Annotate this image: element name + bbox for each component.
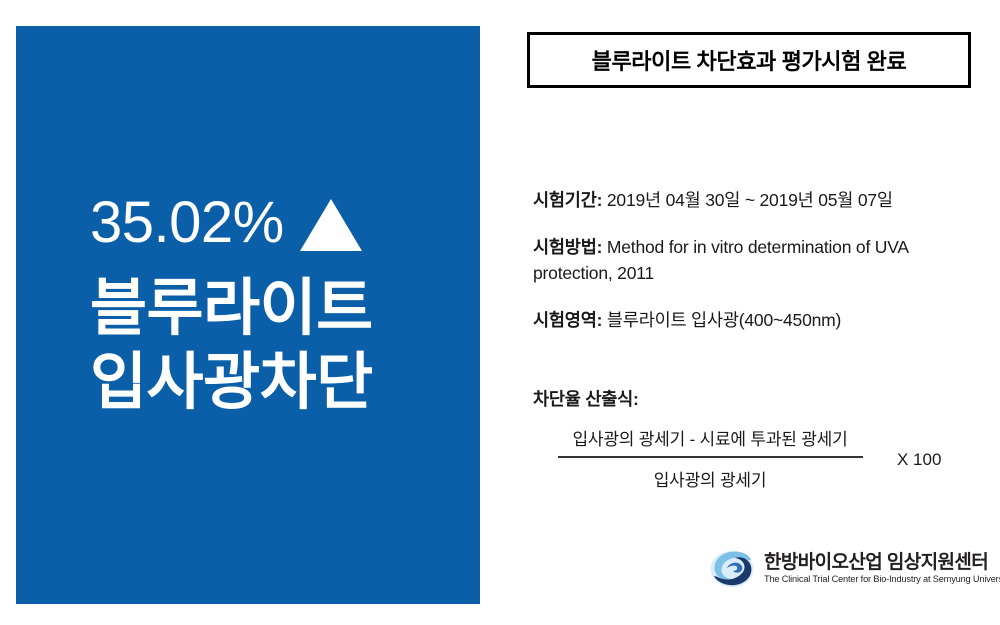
formula-label: 차단율 산출식:: [533, 386, 993, 411]
formula-numerator: 입사광의 광세기 - 시료에 투과된 광세기: [572, 425, 847, 456]
logo-organization-name: 한방바이오산업 임상지원센터: [764, 553, 1000, 572]
blocking-rate-formula: 차단율 산출식: 입사광의 광세기 - 시료에 투과된 광세기 입사광의 광세기…: [533, 386, 993, 491]
formula-fraction: 입사광의 광세기 - 시료에 투과된 광세기 입사광의 광세기: [549, 425, 871, 491]
info-label-test-method: 시험방법:: [533, 237, 602, 257]
logo-organization-subtitle: The Clinical Trial Center for Bio-Indust…: [764, 575, 1000, 584]
formula-expression: 입사광의 광세기 - 시료에 투과된 광세기 입사광의 광세기 X 100: [533, 425, 993, 491]
info-value-test-period: 2019년 04월 30일 ~ 2019년 05월 07일: [602, 190, 893, 210]
test-info-list: 시험기간: 2019년 04월 30일 ~ 2019년 05월 07일 시험방법…: [533, 188, 985, 334]
kpi-label-line-2: 입사광차단: [90, 352, 470, 414]
kpi-label-line-1: 블루라이트: [90, 278, 470, 340]
logo-text-block: 한방바이오산업 임상지원센터 The Clinical Trial Center…: [764, 553, 1000, 584]
highlight-panel-content: 35.02% 블루라이트 입사광차단: [90, 194, 470, 414]
info-row-test-method: 시험방법: Method for in vitro determination …: [533, 235, 985, 286]
formula-multiplier: X 100: [897, 450, 941, 470]
formula-denominator: 입사광의 광세기: [654, 458, 767, 491]
organization-logo: 한방바이오산업 임상지원센터 The Clinical Trial Center…: [710, 548, 1000, 590]
page-title-box: 블루라이트 차단효과 평가시험 완료: [527, 32, 971, 88]
details-column: 블루라이트 차단효과 평가시험 완료 시험기간: 2019년 04월 30일 ~…: [527, 0, 987, 625]
kpi-value-row: 35.02%: [90, 194, 470, 252]
page-title: 블루라이트 차단효과 평가시험 완료: [592, 44, 907, 76]
info-row-test-range: 시험영역: 블루라이트 입사광(400~450nm): [533, 308, 985, 333]
triangle-up-icon: [300, 199, 362, 251]
swirl-logo-icon: [710, 548, 756, 590]
info-value-test-range: 블루라이트 입사광(400~450nm): [602, 310, 841, 330]
info-label-test-period: 시험기간:: [533, 190, 602, 210]
kpi-value: 35.02%: [90, 194, 284, 252]
info-label-test-range: 시험영역:: [533, 310, 602, 330]
highlight-panel: 35.02% 블루라이트 입사광차단: [16, 26, 480, 604]
info-row-test-period: 시험기간: 2019년 04월 30일 ~ 2019년 05월 07일: [533, 188, 985, 213]
